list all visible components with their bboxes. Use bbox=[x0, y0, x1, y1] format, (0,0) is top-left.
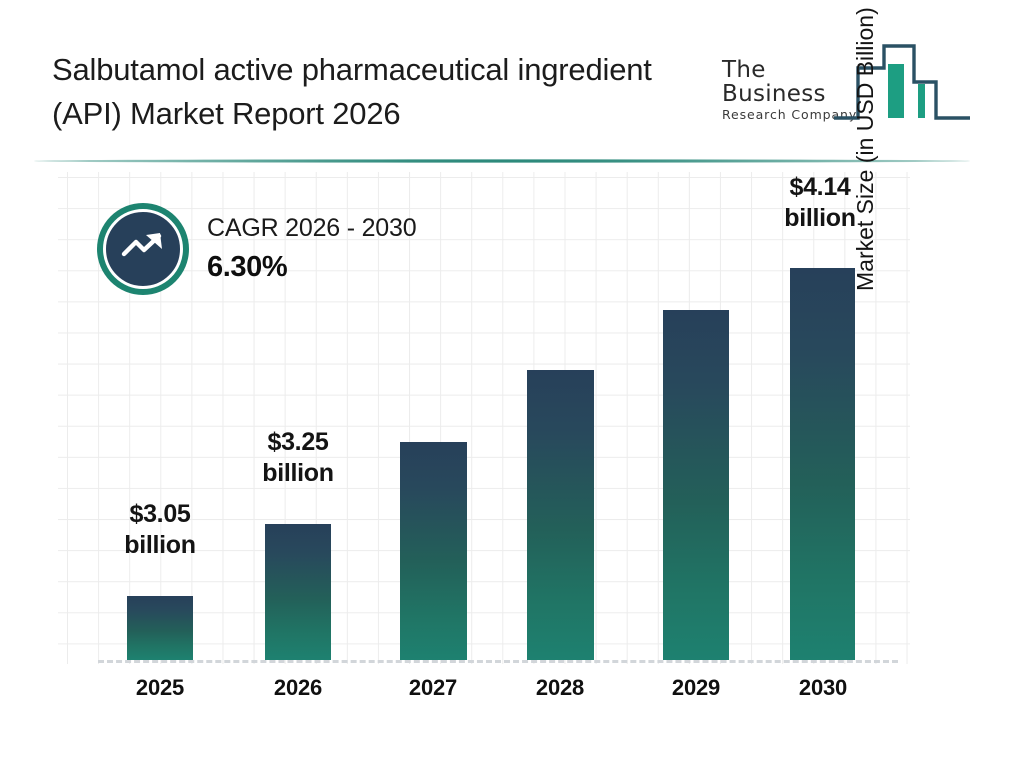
chart-baseline bbox=[98, 660, 898, 666]
bar-value-unit: billion bbox=[100, 530, 220, 561]
cagr-text-group: CAGR 2026 - 2030 6.30% bbox=[207, 213, 416, 285]
bar-value-amount: $3.05 bbox=[100, 499, 220, 530]
bar-2029[interactable] bbox=[663, 310, 729, 660]
bar-value-label: $3.05billion bbox=[100, 499, 220, 560]
x-tick-2025: 2025 bbox=[110, 675, 210, 701]
y-axis-title: Market Size (in USD Billion) bbox=[852, 0, 888, 291]
x-tick-2027: 2027 bbox=[383, 675, 483, 701]
bar-value-amount: $3.25 bbox=[238, 427, 358, 458]
cagr-value: 6.30% bbox=[207, 250, 416, 285]
x-tick-2028: 2028 bbox=[510, 675, 610, 701]
bar-2027[interactable] bbox=[400, 442, 467, 660]
bar-2030[interactable] bbox=[790, 268, 855, 660]
bar-2028[interactable] bbox=[527, 370, 594, 660]
bar-2025[interactable] bbox=[127, 596, 193, 660]
cagr-callout: CAGR 2026 - 2030 6.30% bbox=[97, 203, 517, 303]
bar-value-unit: billion bbox=[238, 458, 358, 489]
cagr-badge-circle bbox=[103, 209, 183, 289]
company-logo[interactable]: The Business Research Company bbox=[722, 38, 972, 128]
cagr-period-label: CAGR 2026 - 2030 bbox=[207, 213, 416, 243]
x-tick-2030: 2030 bbox=[773, 675, 873, 701]
bar-value-label: $3.25billion bbox=[238, 427, 358, 488]
trending-up-icon bbox=[119, 230, 167, 269]
x-tick-2026: 2026 bbox=[248, 675, 348, 701]
x-axis: 202520262027202820292030 bbox=[58, 675, 910, 715]
x-tick-2029: 2029 bbox=[646, 675, 746, 701]
header-divider bbox=[34, 159, 970, 163]
bar-2026[interactable] bbox=[265, 524, 331, 660]
cagr-badge-ring bbox=[97, 203, 189, 295]
page-title: Salbutamol active pharmaceutical ingredi… bbox=[52, 48, 692, 136]
